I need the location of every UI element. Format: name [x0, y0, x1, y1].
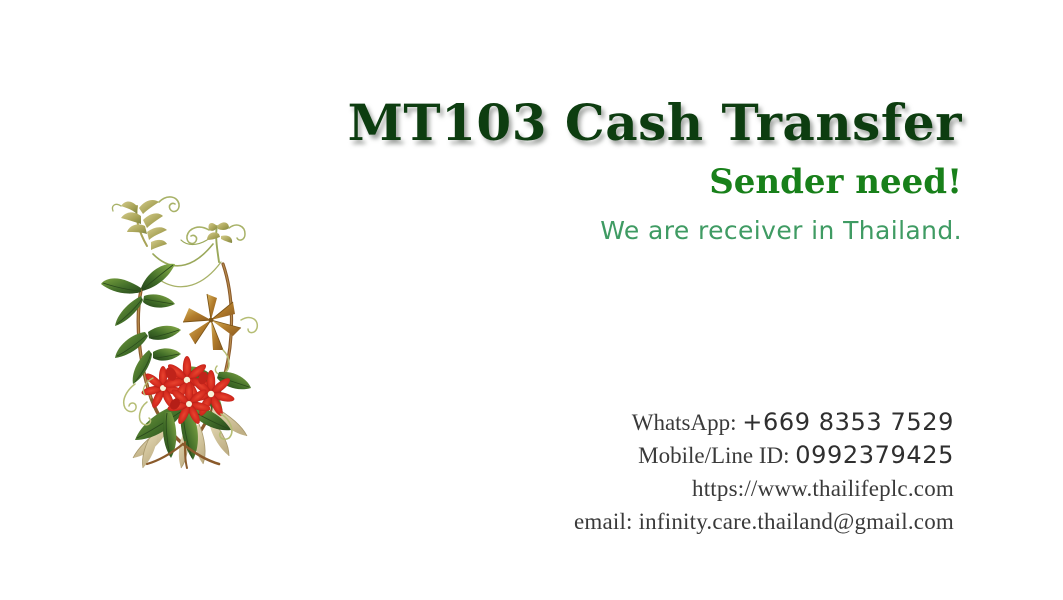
mobile-label: Mobile/Line ID:: [638, 443, 789, 468]
headline-block: MT103 Cash Transfer Sender need! We are …: [290, 96, 962, 245]
page-tagline: We are receiver in Thailand.: [290, 217, 962, 245]
contact-line-mobile: Mobile/Line ID: 0992379425: [520, 439, 954, 472]
whatsapp-label: WhatsApp:: [632, 410, 737, 435]
whatsapp-number[interactable]: +669 8353 7529: [742, 408, 954, 436]
contact-line-whatsapp: WhatsApp: +669 8353 7529: [520, 406, 954, 439]
email-address[interactable]: infinity.care.thailand@gmail.com: [639, 509, 954, 534]
contact-details: WhatsApp: +669 8353 7529 Mobile/Line ID:…: [520, 406, 954, 538]
email-label: email:: [574, 509, 633, 534]
website-url[interactable]: https://www.thailifeplc.com: [520, 472, 954, 505]
contact-line-email: email: infinity.care.thailand@gmail.com: [520, 505, 954, 538]
floral-wreath-illustration: [101, 192, 259, 470]
business-card-canvas: MT103 Cash Transfer Sender need! We are …: [0, 0, 1063, 600]
page-title: MT103 Cash Transfer: [290, 96, 962, 150]
mobile-number[interactable]: 0992379425: [795, 441, 954, 469]
page-subtitle: Sender need!: [290, 164, 962, 201]
